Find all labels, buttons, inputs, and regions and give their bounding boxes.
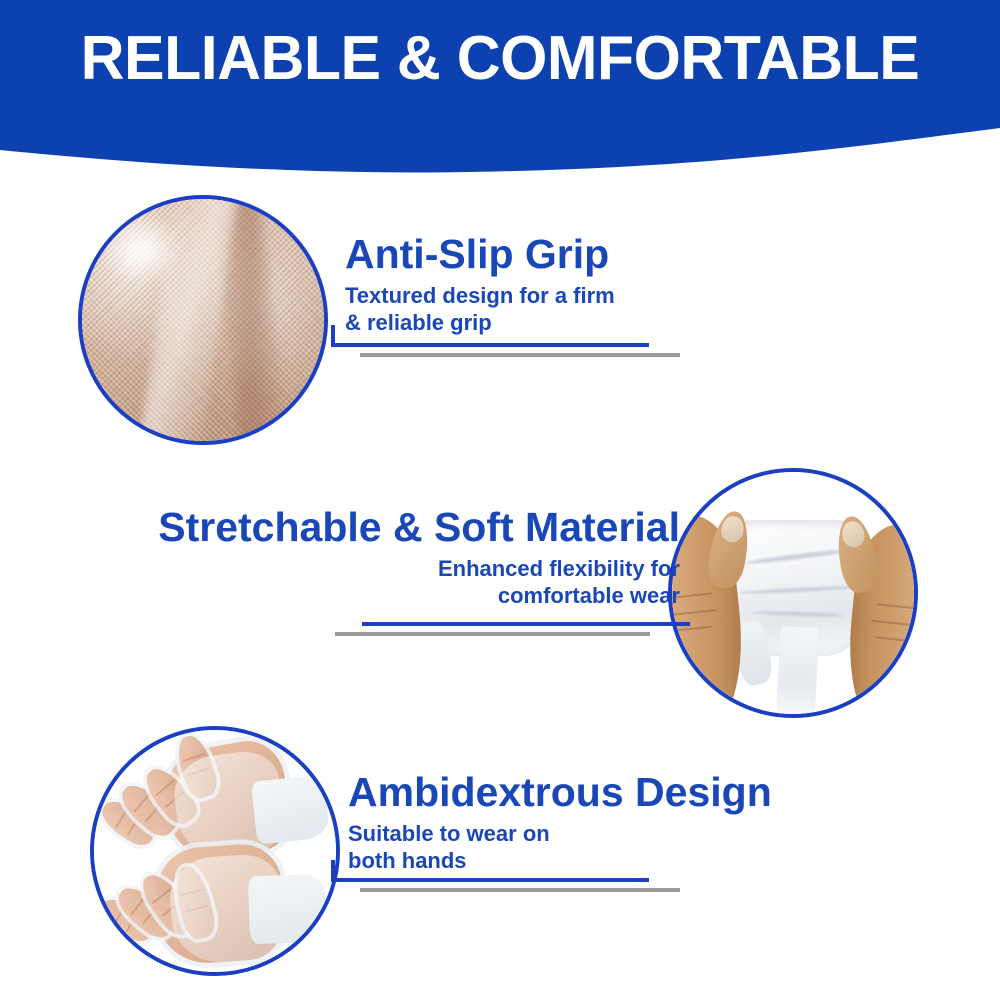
- feature-divider-blue-1: [331, 343, 649, 347]
- feature-divider-blue-3: [331, 878, 649, 882]
- finger-crease: [133, 794, 150, 814]
- feature-subtitle-line-2: both hands: [348, 848, 772, 875]
- knuckle-line: [668, 608, 717, 617]
- finger-crease: [115, 807, 129, 828]
- infographic-page: RELIABLE & COMFORTABLE Anti-Slip Grip Te…: [0, 0, 1000, 1000]
- feature-subtitle-line-1: Enhanced flexibility for: [80, 556, 680, 583]
- stretching-hands-photo: [672, 472, 914, 714]
- knuckle-line: [878, 604, 918, 613]
- feature-subtitle-stretchable-soft-material: Enhanced flexibility for comfortable wea…: [80, 556, 680, 610]
- banner-title: RELIABLE & COMFORTABLE: [10, 26, 990, 91]
- material-specular-highlight: [101, 214, 183, 287]
- feature-title-stretchable-soft-material: Stretchable & Soft Material: [80, 505, 680, 550]
- header-banner: RELIABLE & COMFORTABLE: [0, 0, 1000, 185]
- thumbnail: [719, 514, 746, 544]
- feature-divider-blue-2: [362, 622, 690, 626]
- feature-block-anti-slip-grip: Anti-Slip Grip Textured design for a fir…: [345, 232, 615, 337]
- feature-subtitle-line-2: comfortable wear: [80, 583, 680, 610]
- knuckle-line: [876, 636, 918, 644]
- textured-material-photo: [82, 199, 324, 441]
- lower-glove-cuff: [248, 874, 328, 944]
- glove-lower-fold-right: [776, 626, 820, 718]
- finger-crease: [155, 780, 175, 797]
- feature-divider-gray-1: [360, 353, 680, 357]
- finger-crease: [131, 896, 147, 916]
- feature-divider-gray-3: [360, 888, 680, 892]
- feature-subtitle-ambidextrous-design: Suitable to wear on both hands: [348, 821, 772, 875]
- feature-divider-tick-1: [331, 325, 335, 347]
- feature-image-ambidextrous-design: [90, 726, 340, 976]
- gloved-hands-photo: [94, 730, 336, 972]
- feature-block-stretchable-soft-material: Stretchable & Soft Material Enhanced fle…: [80, 505, 680, 610]
- upper-glove-cuff: [251, 775, 330, 845]
- feature-image-anti-slip-grip: [78, 195, 328, 445]
- feature-title-ambidextrous-design: Ambidextrous Design: [348, 770, 772, 815]
- feature-subtitle-line-1: Textured design for a firm: [345, 283, 615, 310]
- feature-subtitle-anti-slip-grip: Textured design for a firm & reliable gr…: [345, 283, 615, 337]
- feature-divider-gray-2: [335, 632, 650, 636]
- knuckle-line: [668, 626, 712, 634]
- feature-title-anti-slip-grip: Anti-Slip Grip: [345, 232, 615, 277]
- finger-crease: [152, 888, 172, 904]
- knuckle-line: [872, 620, 918, 629]
- feature-image-stretchable-soft-material: [668, 468, 918, 718]
- feature-subtitle-line-1: Suitable to wear on: [348, 821, 772, 848]
- feature-subtitle-line-2: & reliable grip: [345, 310, 615, 337]
- feature-block-ambidextrous-design: Ambidextrous Design Suitable to wear on …: [348, 770, 772, 875]
- feature-divider-tick-3: [331, 860, 335, 882]
- thumbnail: [840, 519, 867, 549]
